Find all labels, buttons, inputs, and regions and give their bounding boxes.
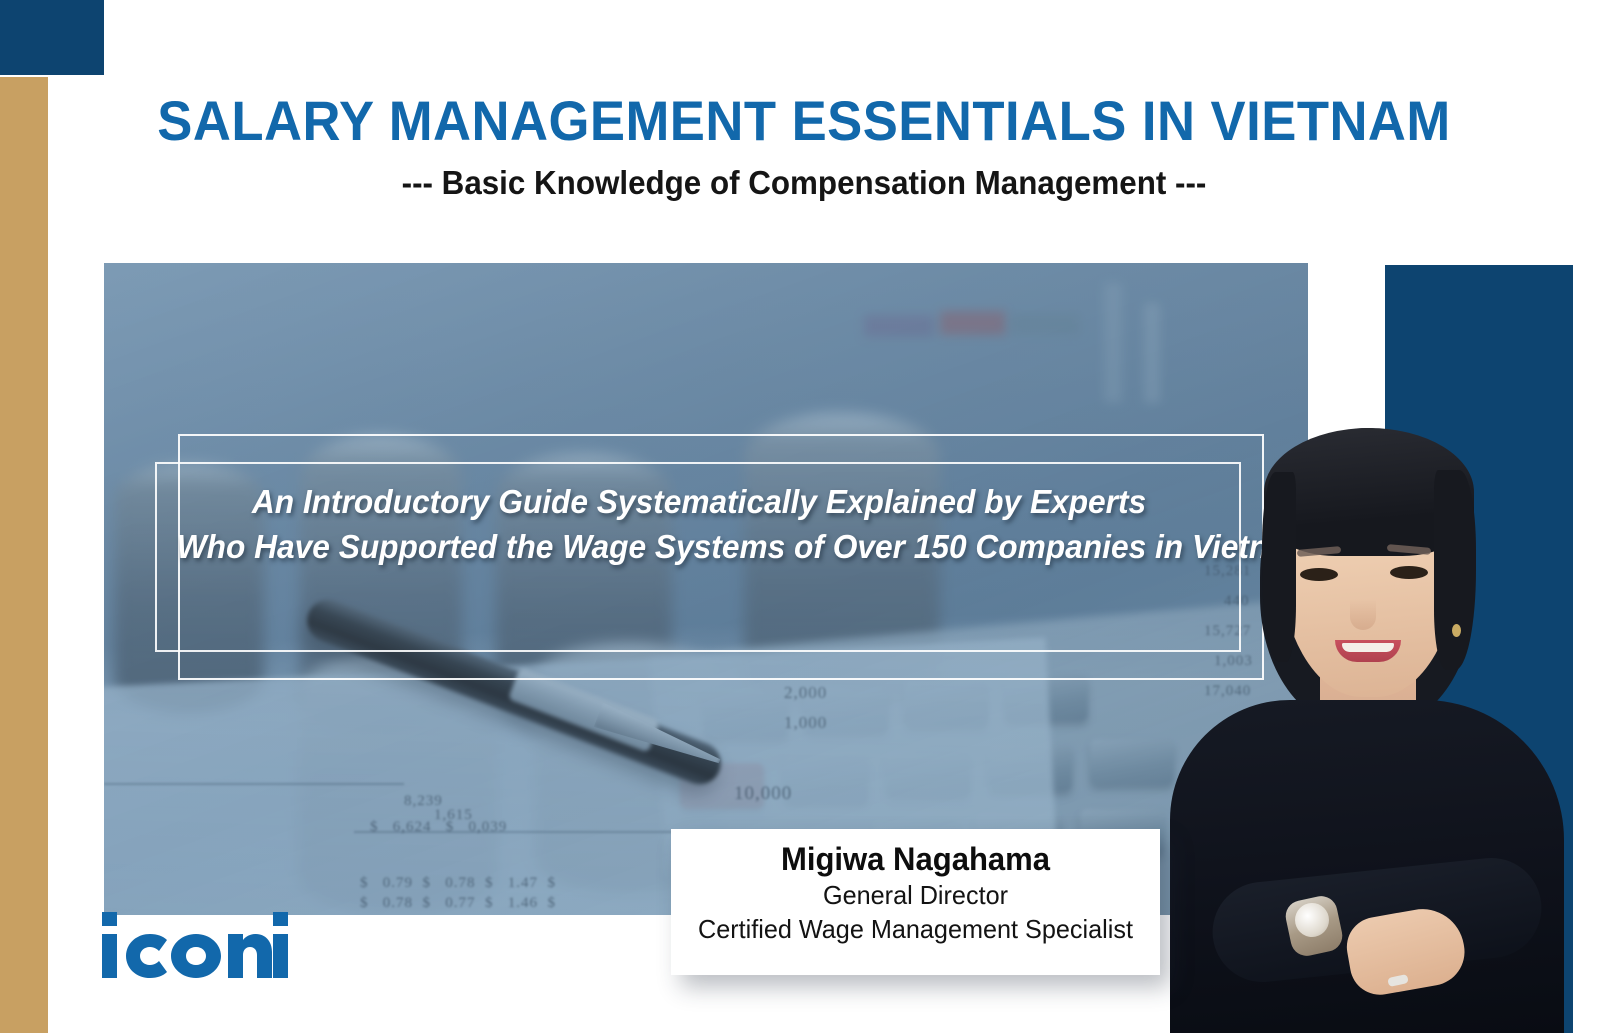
- iconic-logo: [100, 908, 290, 980]
- navy-corner-block: [0, 0, 104, 75]
- hair-side-left: [1262, 472, 1296, 662]
- eye-left: [1300, 568, 1338, 581]
- presenter-certification: Certified Wage Management Specialist: [678, 913, 1152, 947]
- nose: [1350, 586, 1376, 630]
- presenter-role: General Director: [678, 879, 1152, 913]
- presenter-portrait: [1152, 400, 1572, 1033]
- tagline-block: An Introductory Guide Systematically Exp…: [177, 480, 1221, 569]
- eye-right: [1390, 566, 1428, 579]
- tagline-line-1: An Introductory Guide Systematically Exp…: [177, 480, 1221, 525]
- presenter-name: Migiwa Nagahama: [678, 839, 1152, 879]
- hair-side-right: [1434, 470, 1476, 670]
- page-title: SALARY MANAGEMENT ESSENTIALS IN VIETNAM: [146, 92, 1462, 151]
- title-block: SALARY MANAGEMENT ESSENTIALS IN VIETNAM …: [104, 92, 1504, 201]
- gold-accent-bar: [0, 77, 48, 1033]
- iconic-logo-icon: [100, 908, 290, 980]
- earring: [1452, 624, 1461, 637]
- tagline-line-2: Who Have Supported the Wage Systems of O…: [177, 525, 1221, 570]
- teeth: [1342, 643, 1394, 652]
- page-subtitle: --- Basic Knowledge of Compensation Mana…: [139, 165, 1469, 201]
- presenter-name-card: Migiwa Nagahama General Director Certifi…: [671, 829, 1160, 975]
